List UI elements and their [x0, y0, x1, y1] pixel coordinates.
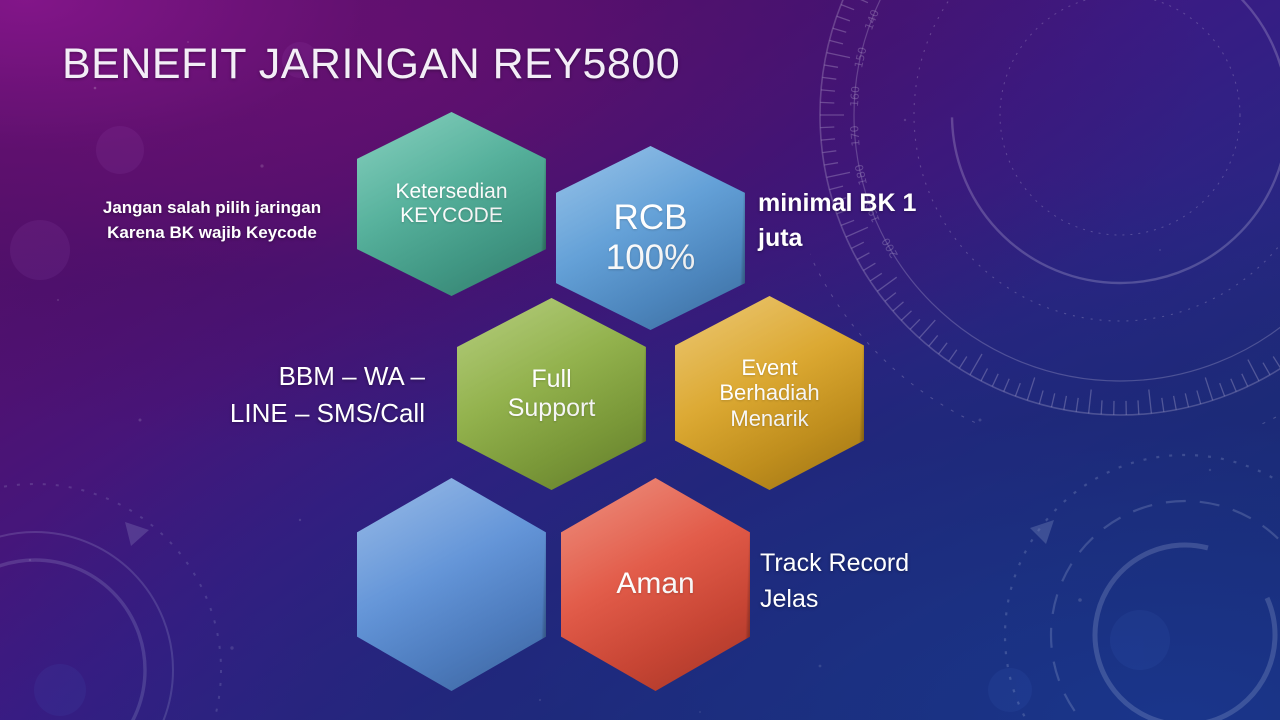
caption-keycode-line2: Karena BK wajib Keycode [107, 223, 317, 242]
svg-text:140: 140 [862, 8, 882, 32]
hexagon-label-line3: Menarik [730, 406, 808, 431]
hexagon-label-line2: Support [508, 394, 596, 422]
hexagon-gloss [357, 478, 546, 691]
hexagon-label: Ketersedian KEYCODE [381, 180, 521, 229]
hexagon-label-line1: Ketersedian [395, 180, 507, 203]
circle-arrows-decoration-bottom-right [970, 420, 1280, 720]
hexagon-label: Event Berhadiah Menarik [705, 355, 833, 432]
svg-text:170: 170 [848, 125, 863, 147]
hexagon-label: Aman [602, 567, 708, 602]
hexagon-label-line2: Berhadiah [719, 380, 819, 405]
hexagon-label-line1: Event [741, 355, 797, 380]
hexagon-label-line1: Full [531, 365, 571, 393]
hexagon-event-berhadiah-menarik[interactable]: Event Berhadiah Menarik [675, 296, 864, 490]
caption-support-line1: BBM – WA – [279, 361, 425, 391]
hexagon-label: RCB 100% [592, 198, 710, 277]
hexagon-bevel-highlight [357, 478, 546, 691]
svg-text:180: 180 [853, 163, 870, 186]
caption-full-support: BBM – WA – LINE – SMS/Call [160, 358, 425, 432]
hexagon-rcb-100[interactable]: RCB 100% [556, 146, 745, 330]
hexagon-blank[interactable] [357, 478, 546, 691]
svg-text:160: 160 [848, 86, 862, 108]
caption-aman-line1: Track Record [760, 549, 909, 577]
caption-aman: Track Record Jelas [760, 546, 990, 617]
page-title: BENEFIT JARINGAN REY5800 [62, 40, 680, 89]
svg-text:150: 150 [852, 46, 869, 69]
caption-keycode-line1: Jangan salah pilih jaringan [103, 198, 321, 217]
caption-rcb-line1: minimal BK 1 [758, 189, 916, 217]
hexagon-label-line1: RCB [614, 198, 688, 237]
hexagon-full-support[interactable]: Full Support [457, 298, 646, 490]
hexagon-aman[interactable]: Aman [561, 478, 750, 691]
hexagon-bevel-shadow [357, 478, 546, 691]
caption-support-line2: LINE – SMS/Call [230, 398, 425, 428]
hexagon-label-line2: KEYCODE [400, 204, 503, 227]
caption-keycode: Jangan salah pilih jaringan Karena BK wa… [72, 196, 352, 245]
caption-rcb-line2: juta [758, 224, 802, 252]
caption-rcb: minimal BK 1 juta [758, 186, 973, 256]
caption-aman-line2: Jelas [760, 585, 818, 613]
hexagon-label-line2: 100% [606, 238, 696, 277]
slide-canvas: 2001901801701601501401301201101009080 BE… [0, 0, 1280, 720]
hexagon-ketersedian-keycode[interactable]: Ketersedian KEYCODE [357, 112, 546, 296]
hexagon-label: Full Support [494, 365, 610, 423]
circle-arrows-decoration-bottom-left [0, 460, 245, 720]
